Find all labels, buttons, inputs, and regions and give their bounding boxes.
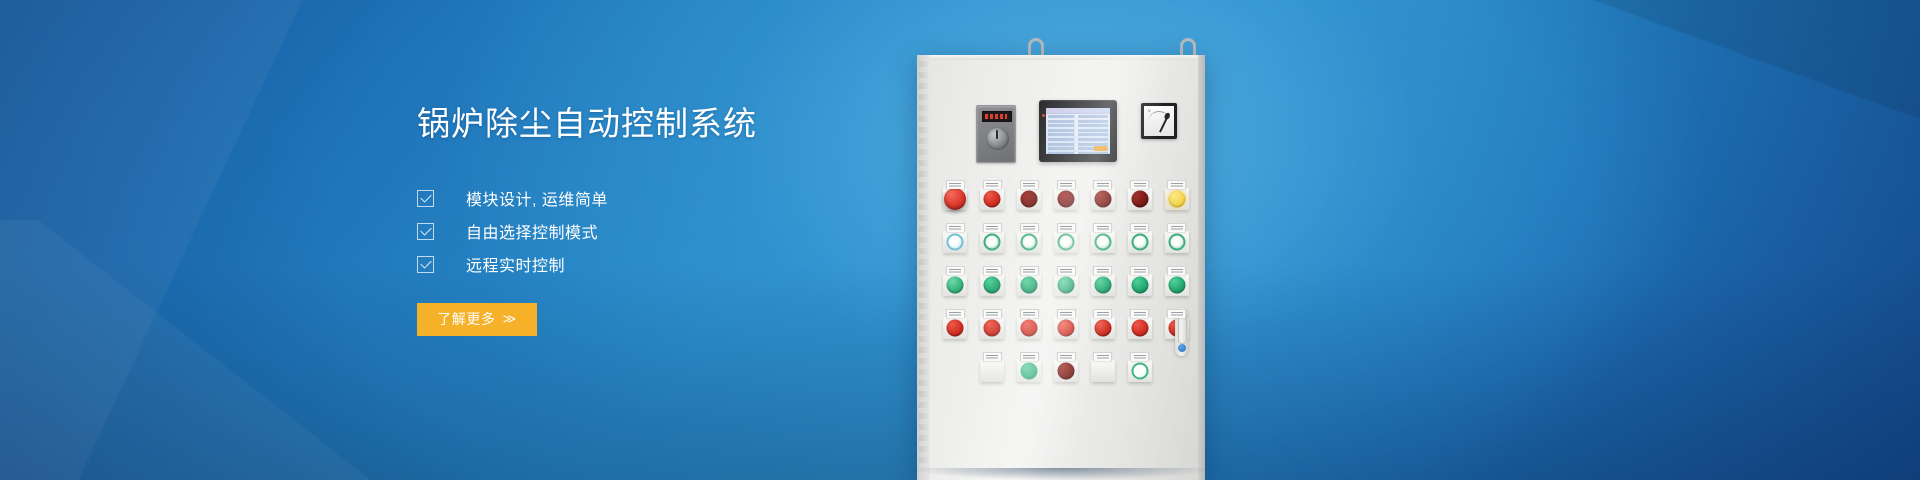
feature-label: 远程实时控制 (466, 252, 565, 276)
button-tag-label (1130, 309, 1149, 318)
button-tag-label (1020, 309, 1039, 318)
indicator-white-green-3[interactable] (1048, 223, 1085, 253)
power-led-icon (1042, 114, 1045, 117)
indicator-green-7[interactable] (1158, 266, 1195, 296)
button-base[interactable] (943, 317, 967, 339)
lamp-green-icon[interactable] (1058, 277, 1075, 294)
button-base[interactable] (1091, 274, 1115, 296)
feature-label: 模块设计, 运维简单 (466, 186, 608, 210)
indicator-green-6[interactable] (1121, 266, 1158, 296)
button-tag-label (1130, 223, 1149, 232)
table-row (937, 180, 1195, 210)
button-tag-label (1020, 223, 1039, 232)
lamp-red-icon[interactable] (984, 191, 1001, 208)
lamp-dark-red-icon[interactable] (1131, 191, 1148, 208)
indicator-white-cyan[interactable] (937, 223, 974, 253)
indicator-green-3[interactable] (1011, 266, 1048, 296)
button-base[interactable] (1128, 188, 1152, 210)
indicator-red-3[interactable] (1011, 309, 1048, 339)
indicator-dark-red-1[interactable] (1011, 180, 1048, 210)
selector-switch-green[interactable] (1011, 352, 1048, 382)
indicator-dark-red-4[interactable] (1121, 180, 1158, 210)
lamp-red-icon[interactable] (1058, 320, 1075, 337)
matrix-spacer (937, 352, 974, 382)
lamp-amber-icon[interactable] (1168, 191, 1185, 208)
indicator-white-green-4[interactable] (1084, 223, 1121, 253)
indicator-red-1[interactable] (937, 309, 974, 339)
chevron-right-icon: ≫ (503, 311, 517, 327)
lamp-white-green-icon[interactable] (1058, 234, 1075, 251)
hmi-touchscreen-panel[interactable] (1039, 100, 1117, 162)
button-base[interactable] (1091, 231, 1115, 253)
button-base[interactable] (1165, 231, 1189, 253)
button-tag-label (1093, 266, 1112, 275)
matrix-spacer (1158, 352, 1195, 382)
banner-copy: 锅炉除尘自动控制系统 模块设计, 运维简单 自由选择控制模式 远程实时控制 了解… (417, 104, 887, 336)
list-item: 远程实时控制 (417, 248, 887, 281)
indicator-white-green-1[interactable] (974, 223, 1011, 253)
button-base[interactable] (1054, 360, 1078, 382)
button-base[interactable] (1091, 317, 1115, 339)
button-tag-label (983, 352, 1002, 361)
cabinet-ground-shadow (910, 468, 1212, 480)
gauge-face: V (1144, 106, 1174, 136)
button-tag-label (1093, 223, 1112, 232)
lamp-red-icon[interactable] (947, 320, 964, 337)
product-image-control-cabinet: V (900, 0, 1920, 480)
button-tag-label (946, 266, 965, 275)
button-base[interactable] (1091, 360, 1115, 382)
lamp-green-icon[interactable] (1168, 277, 1185, 294)
door-lock-icon[interactable] (1178, 344, 1186, 352)
selector-switch-black-2[interactable] (1084, 352, 1121, 382)
hmi-highlight-tag (1094, 146, 1107, 151)
table-row (937, 309, 1195, 339)
lamp-white-green-icon[interactable] (1131, 234, 1148, 251)
lamp-white-green-icon[interactable] (1094, 234, 1111, 251)
button-base[interactable] (943, 274, 967, 296)
lamp-white-cyan-icon[interactable] (947, 234, 964, 251)
button-tag-label (1057, 180, 1076, 189)
gauge-unit-label: V (1148, 108, 1151, 113)
lamp-dark-red-icon[interactable] (1058, 191, 1075, 208)
indicator-green-4[interactable] (1048, 266, 1085, 296)
button-tag-label (1057, 223, 1076, 232)
lamp-red-icon[interactable] (1094, 320, 1111, 337)
button-base[interactable] (1054, 188, 1078, 210)
button-base[interactable] (1017, 274, 1041, 296)
button-tag-label (1020, 352, 1039, 361)
indicator-white-green-6[interactable] (1158, 223, 1195, 253)
lamp-dark-red-icon[interactable] (1094, 191, 1111, 208)
feature-label: 自由选择控制模式 (466, 219, 598, 243)
analog-voltmeter-gauge: V (1141, 103, 1177, 139)
button-base[interactable] (980, 188, 1004, 210)
checkbox-checked-icon (417, 256, 434, 273)
lamp-white-green-icon[interactable] (984, 234, 1001, 251)
button-base[interactable] (1054, 231, 1078, 253)
rotary-dial-icon[interactable] (986, 127, 1009, 150)
button-base[interactable] (1128, 274, 1152, 296)
lamp-white-green-icon[interactable] (1168, 234, 1185, 251)
button-base[interactable] (980, 274, 1004, 296)
button-tag-label (1093, 180, 1112, 189)
lamp-estop-icon[interactable] (944, 188, 966, 210)
button-base[interactable] (1165, 188, 1189, 210)
checkbox-checked-icon (417, 223, 434, 240)
button-tag-label (946, 309, 965, 318)
indicator-amber-alert[interactable] (1158, 180, 1195, 210)
lamp-red-icon[interactable] (1131, 320, 1148, 337)
indicator-green-1[interactable] (937, 266, 974, 296)
lamp-green-icon[interactable] (947, 277, 964, 294)
list-item: 自由选择控制模式 (417, 215, 887, 248)
button-base[interactable] (1017, 360, 1041, 382)
hmi-screen[interactable] (1046, 108, 1110, 154)
checkbox-checked-icon (417, 190, 434, 207)
indicator-white-green-2[interactable] (1011, 223, 1048, 253)
lamp-red-icon[interactable] (984, 320, 1001, 337)
control-button-matrix (937, 180, 1195, 382)
indicator-red-2[interactable] (974, 309, 1011, 339)
button-base[interactable] (1054, 317, 1078, 339)
learn-more-button[interactable]: 了解更多 ≫ (417, 303, 537, 336)
lamp-green-icon[interactable] (984, 277, 1001, 294)
indicator-dark-red-2[interactable] (1048, 180, 1085, 210)
list-item: 模块设计, 运维简单 (417, 182, 887, 215)
button-tag-label (1130, 352, 1149, 361)
indicator-green-2[interactable] (974, 266, 1011, 296)
indicator-red-5[interactable] (1084, 309, 1121, 339)
indicator-green-5[interactable] (1084, 266, 1121, 296)
button-tag-label (1130, 180, 1149, 189)
button-base[interactable] (943, 188, 967, 210)
button-base[interactable] (1128, 317, 1152, 339)
lamp-dark-red-icon[interactable] (1058, 363, 1075, 380)
indicator-white-green-5[interactable] (1121, 223, 1158, 253)
button-tag-label (1020, 180, 1039, 189)
button-tag-label (1167, 223, 1186, 232)
learn-more-label: 了解更多 (437, 309, 495, 329)
indicator-red-6[interactable] (1121, 309, 1158, 339)
table-row (937, 352, 1195, 382)
cabinet-left-strip (917, 55, 930, 480)
gauge-needle-icon (1159, 115, 1168, 132)
selector-knob-green-icon[interactable] (1021, 363, 1038, 380)
button-tag-label (1130, 266, 1149, 275)
feature-list: 模块设计, 运维简单 自由选择控制模式 远程实时控制 (417, 182, 887, 281)
button-base[interactable] (943, 231, 967, 253)
button-tag-label (983, 266, 1002, 275)
button-tag-label (946, 223, 965, 232)
indicator-dark-red-3[interactable] (1084, 180, 1121, 210)
selector-switch-black-1[interactable] (974, 352, 1011, 382)
lamp-green-icon[interactable] (1021, 277, 1038, 294)
alarm-button-red[interactable] (974, 180, 1011, 210)
indicator-red-4[interactable] (1048, 309, 1085, 339)
button-base[interactable] (1165, 274, 1189, 296)
indicator-red-lower[interactable] (1048, 352, 1085, 382)
button-base[interactable] (1091, 188, 1115, 210)
table-row (937, 223, 1195, 253)
led-display-icon (982, 111, 1012, 122)
button-tag-label (1057, 266, 1076, 275)
table-row (937, 266, 1195, 296)
button-base[interactable] (980, 231, 1004, 253)
button-tag-label (1167, 180, 1186, 189)
button-tag-label (1167, 309, 1186, 318)
cabinet-top-edge (917, 55, 1205, 60)
button-tag-label (983, 309, 1002, 318)
emergency-stop-button[interactable] (937, 180, 974, 210)
page-title: 锅炉除尘自动控制系统 (417, 104, 887, 144)
lamp-green-icon[interactable] (1094, 277, 1111, 294)
button-tag-label (1057, 309, 1076, 318)
indicator-white-lower[interactable] (1121, 352, 1158, 382)
button-tag-label (1093, 352, 1112, 361)
cabinet-hinges-icon (919, 61, 928, 469)
button-base[interactable] (1017, 188, 1041, 210)
button-base[interactable] (1017, 231, 1041, 253)
lamp-dark-red-icon[interactable] (1021, 191, 1038, 208)
button-base[interactable] (980, 360, 1004, 382)
button-tag-label (983, 180, 1002, 189)
button-tag-label (1020, 266, 1039, 275)
button-tag-label (1057, 352, 1076, 361)
button-tag-label (1167, 266, 1186, 275)
button-tag-label (983, 223, 1002, 232)
button-tag-label (1093, 309, 1112, 318)
lamp-white-icon[interactable] (1131, 363, 1148, 380)
button-base[interactable] (1054, 274, 1078, 296)
button-base[interactable] (1128, 231, 1152, 253)
digital-speed-controller[interactable] (976, 105, 1016, 163)
cabinet-right-edge (1198, 55, 1205, 480)
lamp-red-icon[interactable] (1021, 320, 1038, 337)
button-base[interactable] (980, 317, 1004, 339)
button-base[interactable] (1128, 360, 1152, 382)
lamp-green-icon[interactable] (1131, 277, 1148, 294)
lamp-white-green-icon[interactable] (1021, 234, 1038, 251)
button-base[interactable] (1017, 317, 1041, 339)
hero-banner: 锅炉除尘自动控制系统 模块设计, 运维简单 自由选择控制模式 远程实时控制 了解… (0, 0, 1920, 480)
button-tag-label (946, 180, 965, 189)
cabinet-body: V (917, 55, 1205, 480)
